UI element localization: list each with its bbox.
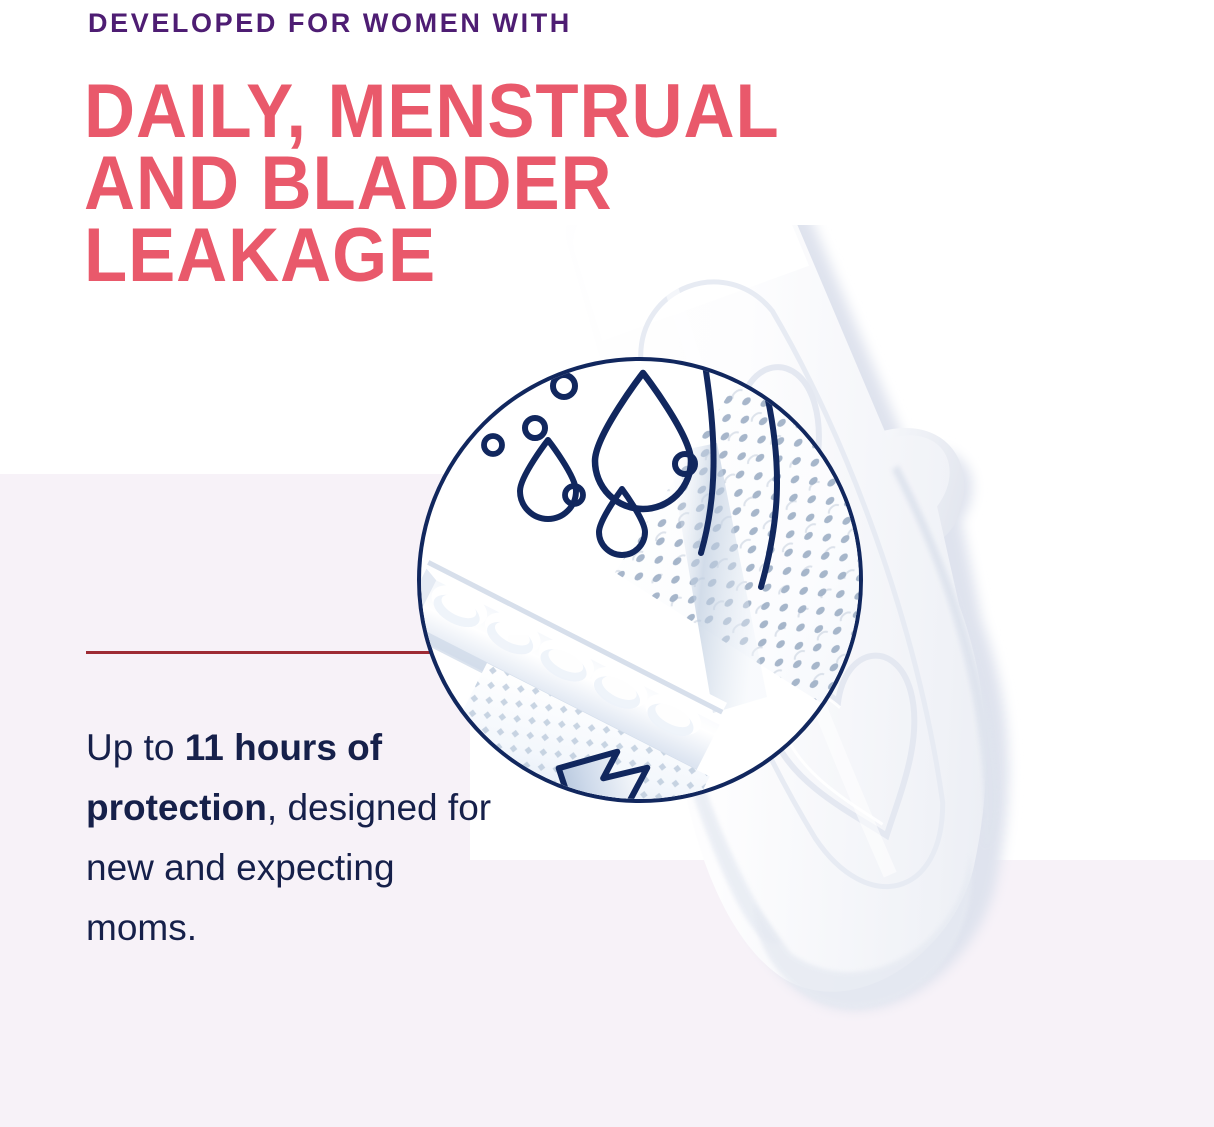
body-copy: Up to 11 hours of protection, designed f…: [86, 718, 506, 958]
promo-image-root: DEVELOPED FOR WOMEN WITH DAILY, MENSTRUA…: [0, 0, 1214, 1127]
headline-line-3: LEAKAGE: [84, 220, 1014, 292]
headline-line-1: DAILY, MENSTRUAL: [84, 76, 1014, 148]
page-title: DAILY, MENSTRUAL AND BLADDER LEAKAGE: [84, 76, 1014, 293]
headline-line-2: AND BLADDER: [84, 148, 1014, 220]
eyebrow-text: DEVELOPED FOR WOMEN WITH: [88, 8, 572, 39]
body-copy-part-1: Up to: [86, 727, 185, 768]
